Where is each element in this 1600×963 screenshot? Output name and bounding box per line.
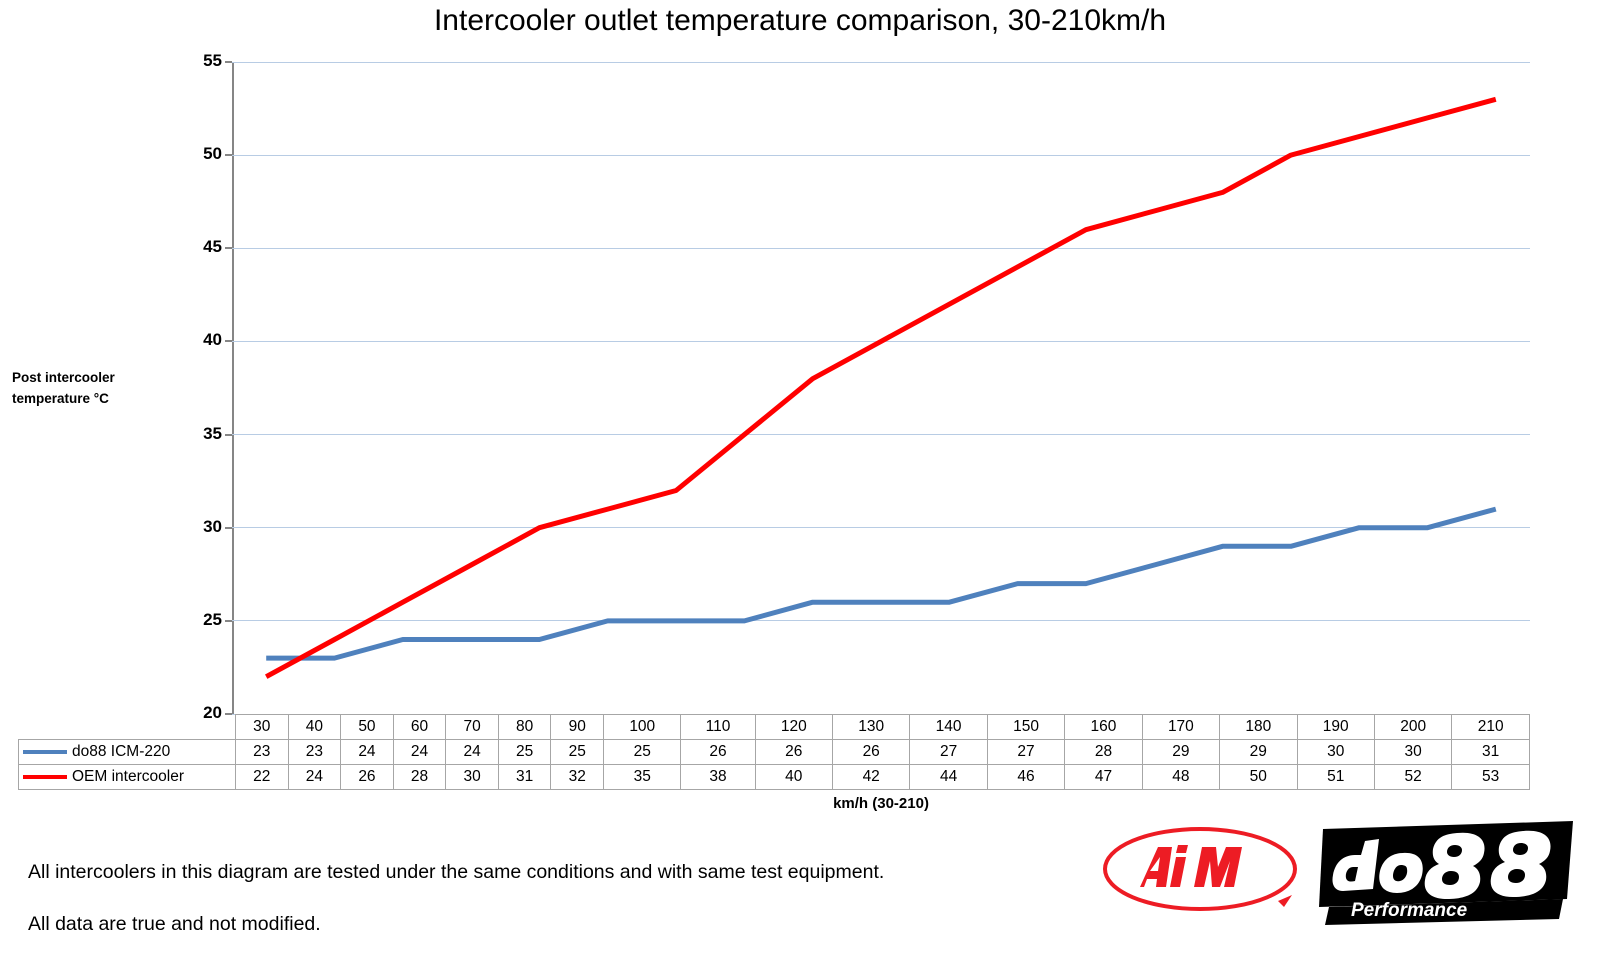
data-cell: 22 <box>236 765 289 790</box>
x-axis-category-label: 190 <box>1297 715 1374 740</box>
data-cell: 24 <box>288 765 341 790</box>
y-axis-title: Post intercooler temperature °C <box>12 367 172 409</box>
data-cell: 24 <box>393 740 446 765</box>
x-axis-category-label: 170 <box>1142 715 1219 740</box>
data-cell: 30 <box>1374 740 1451 765</box>
legend-swatch-icon <box>23 775 67 779</box>
data-cell: 26 <box>681 740 755 765</box>
data-cell: 25 <box>498 740 551 765</box>
x-axis-category-label: 120 <box>755 715 832 740</box>
y-axis-tick-label: 30 <box>162 518 222 535</box>
plot-area: 2025303540455055 <box>232 62 1530 714</box>
data-cell: 31 <box>1452 740 1530 765</box>
x-axis-category-label: 110 <box>681 715 755 740</box>
y-axis-tick-mark <box>225 247 232 249</box>
data-cell: 29 <box>1220 740 1297 765</box>
x-axis-category-label: 100 <box>604 715 681 740</box>
footnote-line-2: All data are true and not modified. <box>28 911 884 937</box>
y-axis-tick-label: 40 <box>162 331 222 348</box>
data-cell: 40 <box>755 765 832 790</box>
do88-performance-text: Performance <box>1351 900 1468 921</box>
x-axis-category-label: 140 <box>910 715 987 740</box>
x-axis-category-label: 70 <box>446 715 499 740</box>
table-row: do88 ICM-2202323242424252525262626272728… <box>19 740 1530 765</box>
table-corner-cell <box>19 715 236 740</box>
x-axis-category-label: 80 <box>498 715 551 740</box>
data-cell: 38 <box>681 765 755 790</box>
legend-label: OEM intercooler <box>72 768 184 786</box>
legend-label: do88 ICM-220 <box>72 743 170 761</box>
x-axis-category-label: 40 <box>288 715 341 740</box>
do88-logo: Performance <box>1315 815 1580 925</box>
y-axis-tick-label: 55 <box>162 52 222 69</box>
data-cell: 48 <box>1142 765 1219 790</box>
data-cell: 50 <box>1220 765 1297 790</box>
data-cell: 28 <box>393 765 446 790</box>
x-axis-category-label: 90 <box>551 715 604 740</box>
y-axis-tick-mark <box>225 620 232 622</box>
logo-group: Performance <box>1100 815 1580 925</box>
data-cell: 23 <box>236 740 289 765</box>
x-axis-category-label: 210 <box>1452 715 1530 740</box>
data-cell: 25 <box>604 740 681 765</box>
data-cell: 26 <box>755 740 832 765</box>
series-line <box>266 99 1496 676</box>
data-cell: 26 <box>341 765 394 790</box>
data-cell: 46 <box>987 765 1064 790</box>
data-cell: 26 <box>832 740 909 765</box>
data-cell: 23 <box>288 740 341 765</box>
x-axis-category-label: 130 <box>832 715 909 740</box>
y-axis-tick-label: 45 <box>162 238 222 255</box>
x-axis-category-label: 200 <box>1374 715 1451 740</box>
data-cell: 42 <box>832 765 909 790</box>
series-line <box>266 509 1496 658</box>
legend-swatch-icon <box>23 750 67 754</box>
data-cell: 24 <box>341 740 394 765</box>
y-axis-tick-label: 25 <box>162 611 222 628</box>
footnote-line-1: All intercoolers in this diagram are tes… <box>28 859 884 885</box>
data-cell: 27 <box>987 740 1064 765</box>
data-cell: 44 <box>910 765 987 790</box>
y-axis-title-line1: Post intercooler <box>12 367 172 388</box>
y-axis-tick-label: 35 <box>162 425 222 442</box>
legend-item[interactable]: OEM intercooler <box>19 765 236 790</box>
x-axis-category-label: 160 <box>1065 715 1142 740</box>
y-axis-tick-mark <box>225 61 232 63</box>
data-cell: 28 <box>1065 740 1142 765</box>
data-cell: 25 <box>551 740 604 765</box>
y-axis-tick-label: 50 <box>162 145 222 162</box>
table-header-row: 3040506070809010011012013014015016017018… <box>19 715 1530 740</box>
y-axis-tick-mark <box>225 527 232 529</box>
x-axis-category-label: 30 <box>236 715 289 740</box>
y-axis-tick-mark <box>225 434 232 436</box>
data-cell: 35 <box>604 765 681 790</box>
x-axis-category-label: 60 <box>393 715 446 740</box>
data-cell: 47 <box>1065 765 1142 790</box>
data-cell: 29 <box>1142 740 1219 765</box>
data-cell: 32 <box>551 765 604 790</box>
data-cell: 30 <box>446 765 499 790</box>
data-table: 3040506070809010011012013014015016017018… <box>18 714 1530 790</box>
y-axis-title-line2: temperature °C <box>12 388 172 409</box>
series-lines <box>232 62 1530 714</box>
data-cell: 53 <box>1452 765 1530 790</box>
y-axis-tick-mark <box>225 154 232 156</box>
x-axis-category-label: 50 <box>341 715 394 740</box>
data-cell: 31 <box>498 765 551 790</box>
data-cell: 52 <box>1374 765 1451 790</box>
x-axis-title: km/h (30-210) <box>232 795 1530 812</box>
legend-item[interactable]: do88 ICM-220 <box>19 740 236 765</box>
data-cell: 30 <box>1297 740 1374 765</box>
data-cell: 24 <box>446 740 499 765</box>
table-row: OEM intercooler2224262830313235384042444… <box>19 765 1530 790</box>
data-cell: 27 <box>910 740 987 765</box>
x-axis-category-label: 150 <box>987 715 1064 740</box>
footnote: All intercoolers in this diagram are tes… <box>28 833 884 963</box>
chart-title: Intercooler outlet temperature compariso… <box>0 4 1600 38</box>
y-axis-tick-mark <box>225 340 232 342</box>
data-cell: 51 <box>1297 765 1374 790</box>
aim-logo <box>1100 823 1300 915</box>
x-axis-category-label: 180 <box>1220 715 1297 740</box>
